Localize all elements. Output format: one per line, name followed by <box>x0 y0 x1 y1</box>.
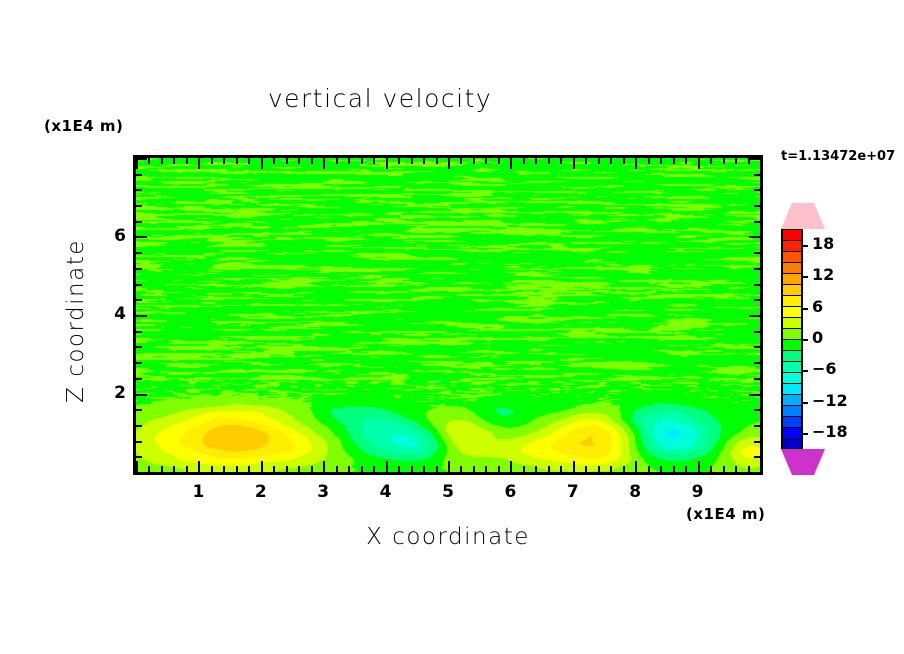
x-major-tick <box>510 461 512 472</box>
x-minor-tick-top <box>723 158 725 164</box>
x-minor-tick-top <box>498 158 500 164</box>
y-minor-tick <box>136 174 142 176</box>
colorbar-label-18: 18 <box>812 234 834 253</box>
colorbar-band-9 <box>781 328 803 339</box>
x-major-tick-top <box>323 158 325 169</box>
x-minor-tick <box>336 466 338 472</box>
x-major-tick <box>635 461 637 472</box>
x-minor-tick-top <box>173 158 175 164</box>
colorbar-band-15 <box>781 394 803 405</box>
x-minor-tick <box>535 466 537 472</box>
y-major-tick-right <box>749 158 760 160</box>
x-minor-tick <box>173 466 175 472</box>
y-major-tick-right <box>749 315 760 317</box>
x-major-tick-top <box>573 158 575 169</box>
x-major-tick-top <box>448 158 450 169</box>
x-major-tick <box>760 461 762 472</box>
x-minor-tick-top <box>273 158 275 164</box>
colorbar-tick-0 <box>803 339 808 341</box>
x-minor-tick <box>623 466 625 472</box>
x-major-tick <box>261 461 263 472</box>
colorbar-band-2 <box>781 251 803 262</box>
x-minor-tick-top <box>623 158 625 164</box>
x-minor-tick-top <box>248 158 250 164</box>
x-major-tick-top <box>510 158 512 169</box>
x-minor-tick-top <box>523 158 525 164</box>
x-minor-tick-top <box>148 158 150 164</box>
x-major-tick <box>323 461 325 472</box>
colorbar-label--12: −12 <box>812 391 848 410</box>
x-major-tick-top <box>698 158 700 169</box>
y-major-tick <box>136 315 147 317</box>
x-minor-tick <box>398 466 400 472</box>
x-minor-tick-top <box>348 158 350 164</box>
y-minor-tick-right <box>754 299 760 301</box>
y-major-tick <box>136 236 147 238</box>
colorbar-label-12: 12 <box>812 265 834 284</box>
x-minor-tick-top <box>710 158 712 164</box>
x-minor-tick <box>560 466 562 472</box>
x-axis-title: X coordinate <box>233 524 663 550</box>
x-minor-tick <box>460 466 462 472</box>
x-minor-tick <box>286 466 288 472</box>
y-minor-tick-right <box>754 221 760 223</box>
x-minor-tick <box>348 466 350 472</box>
y-minor-tick-right <box>754 456 760 458</box>
x-minor-tick <box>548 466 550 472</box>
colorbar-band-14 <box>781 383 803 394</box>
x-major-tick-top <box>760 158 762 169</box>
x-major-tick-top <box>386 158 388 169</box>
x-minor-tick-top <box>373 158 375 164</box>
colorbar-band-0 <box>781 229 803 240</box>
y-major-tick-right <box>749 472 760 474</box>
x-minor-tick <box>361 466 363 472</box>
colorbar-tick-6 <box>803 308 808 310</box>
x-minor-tick-top <box>685 158 687 164</box>
y-minor-tick-right <box>754 425 760 427</box>
y-minor-tick-right <box>754 378 760 380</box>
y-minor-tick <box>136 441 142 443</box>
y-minor-tick <box>136 346 142 348</box>
colorbar-band-13 <box>781 372 803 383</box>
y-minor-tick <box>136 221 142 223</box>
x-minor-tick-top <box>223 158 225 164</box>
x-minor-tick <box>735 466 737 472</box>
colorbar-label-6: 6 <box>812 297 823 316</box>
x-tick-label-1: 1 <box>183 482 213 502</box>
x-minor-tick <box>710 466 712 472</box>
x-axis-unit-label: (x1E4 m) <box>686 505 765 523</box>
x-tick-label-6: 6 <box>495 482 525 502</box>
y-tick-label-6: 6 <box>96 226 126 246</box>
y-tick-label-4: 4 <box>96 304 126 324</box>
x-minor-tick-top <box>411 158 413 164</box>
x-minor-tick <box>485 466 487 472</box>
y-minor-tick <box>136 362 142 364</box>
colorbar-band-5 <box>781 284 803 295</box>
y-major-tick <box>136 394 147 396</box>
velocity-field-canvas <box>136 158 760 472</box>
x-minor-tick-top <box>460 158 462 164</box>
y-minor-tick-right <box>754 252 760 254</box>
x-minor-tick <box>273 466 275 472</box>
x-minor-tick <box>411 466 413 472</box>
colorbar-band-8 <box>781 317 803 328</box>
x-major-tick <box>136 461 138 472</box>
x-minor-tick <box>423 466 425 472</box>
colorbar-cap-bottom <box>781 449 825 475</box>
x-minor-tick <box>498 466 500 472</box>
colorbar-band-6 <box>781 295 803 306</box>
y-tick-label-2: 2 <box>96 383 126 403</box>
colorbar-tick--18 <box>803 433 808 435</box>
x-minor-tick-top <box>560 158 562 164</box>
x-major-tick-top <box>635 158 637 169</box>
y-major-tick <box>136 158 147 160</box>
page-title: vertical velocity <box>0 84 760 113</box>
x-minor-tick-top <box>735 158 737 164</box>
y-axis-unit-label: (x1E4 m) <box>44 117 123 135</box>
x-tick-label-4: 4 <box>371 482 401 502</box>
x-minor-tick <box>598 466 600 472</box>
y-minor-tick <box>136 331 142 333</box>
x-minor-tick <box>585 466 587 472</box>
y-minor-tick <box>136 425 142 427</box>
colorbar-tick--12 <box>803 402 808 404</box>
x-minor-tick-top <box>211 158 213 164</box>
colorbar-band-12 <box>781 361 803 372</box>
x-minor-tick-top <box>236 158 238 164</box>
x-minor-tick-top <box>361 158 363 164</box>
colorbar-band-7 <box>781 306 803 317</box>
colorbar-cap-top <box>781 203 825 229</box>
x-tick-label-2: 2 <box>246 482 276 502</box>
x-minor-tick <box>436 466 438 472</box>
x-major-tick <box>198 461 200 472</box>
y-minor-tick-right <box>754 189 760 191</box>
colorbar-tick-18 <box>803 245 808 247</box>
colorbar-band-4 <box>781 273 803 284</box>
x-minor-tick <box>685 466 687 472</box>
x-minor-tick-top <box>398 158 400 164</box>
x-tick-label-8: 8 <box>620 482 650 502</box>
y-minor-tick <box>136 205 142 207</box>
x-minor-tick-top <box>585 158 587 164</box>
y-minor-tick-right <box>754 205 760 207</box>
x-minor-tick-top <box>336 158 338 164</box>
colorbar-band-16 <box>781 405 803 416</box>
x-minor-tick <box>186 466 188 472</box>
x-minor-tick <box>311 466 313 472</box>
x-tick-label-9: 9 <box>683 482 713 502</box>
y-major-tick-right <box>749 236 760 238</box>
colorbar-band-19 <box>781 438 803 449</box>
x-minor-tick-top <box>286 158 288 164</box>
y-minor-tick <box>136 252 142 254</box>
x-minor-tick-top <box>298 158 300 164</box>
x-minor-tick-top <box>660 158 662 164</box>
y-minor-tick <box>136 189 142 191</box>
x-major-tick-top <box>261 158 263 169</box>
x-tick-label-3: 3 <box>308 482 338 502</box>
y-minor-tick-right <box>754 284 760 286</box>
colorbar-band-18 <box>781 427 803 438</box>
x-minor-tick <box>373 466 375 472</box>
colorbar-band-1 <box>781 240 803 251</box>
x-minor-tick <box>473 466 475 472</box>
x-minor-tick <box>211 466 213 472</box>
y-minor-tick <box>136 299 142 301</box>
x-minor-tick <box>298 466 300 472</box>
colorbar-tick-12 <box>803 276 808 278</box>
x-minor-tick-top <box>548 158 550 164</box>
x-minor-tick-top <box>311 158 313 164</box>
x-minor-tick <box>236 466 238 472</box>
colorbar-band-3 <box>781 262 803 273</box>
x-minor-tick <box>148 466 150 472</box>
x-minor-tick <box>660 466 662 472</box>
x-minor-tick-top <box>610 158 612 164</box>
y-minor-tick-right <box>754 441 760 443</box>
x-minor-tick-top <box>648 158 650 164</box>
colorbar-band-17 <box>781 416 803 427</box>
x-major-tick <box>573 461 575 472</box>
x-minor-tick-top <box>535 158 537 164</box>
x-minor-tick <box>223 466 225 472</box>
x-tick-label-5: 5 <box>433 482 463 502</box>
colorbar-label-0: 0 <box>812 328 823 347</box>
y-minor-tick-right <box>754 409 760 411</box>
x-major-tick-top <box>198 158 200 169</box>
x-minor-tick-top <box>485 158 487 164</box>
colorbar-tick--6 <box>803 370 808 372</box>
x-minor-tick <box>648 466 650 472</box>
colorbar-label--6: −6 <box>812 359 837 378</box>
x-minor-tick <box>248 466 250 472</box>
x-minor-tick-top <box>186 158 188 164</box>
y-minor-tick-right <box>754 346 760 348</box>
y-minor-tick <box>136 456 142 458</box>
x-minor-tick-top <box>598 158 600 164</box>
x-minor-tick-top <box>161 158 163 164</box>
colorbar-label--18: −18 <box>812 422 848 441</box>
y-minor-tick <box>136 268 142 270</box>
x-minor-tick <box>610 466 612 472</box>
y-major-tick-right <box>749 394 760 396</box>
y-minor-tick <box>136 284 142 286</box>
y-major-tick <box>136 472 147 474</box>
x-tick-label-7: 7 <box>558 482 588 502</box>
x-minor-tick-top <box>423 158 425 164</box>
x-minor-tick <box>161 466 163 472</box>
y-minor-tick-right <box>754 174 760 176</box>
x-minor-tick-top <box>473 158 475 164</box>
x-major-tick <box>698 461 700 472</box>
timestamp-label: t=1.13472e+07 <box>781 149 895 164</box>
y-minor-tick-right <box>754 268 760 270</box>
x-minor-tick-top <box>673 158 675 164</box>
x-minor-tick <box>673 466 675 472</box>
x-minor-tick-top <box>436 158 438 164</box>
y-axis-title: Z coordinate <box>63 221 89 421</box>
y-minor-tick-right <box>754 331 760 333</box>
y-minor-tick-right <box>754 362 760 364</box>
y-minor-tick <box>136 378 142 380</box>
x-major-tick <box>386 461 388 472</box>
x-minor-tick <box>523 466 525 472</box>
y-minor-tick <box>136 409 142 411</box>
x-major-tick <box>448 461 450 472</box>
colorbar-band-10 <box>781 339 803 350</box>
colorbar-band-11 <box>781 350 803 361</box>
x-minor-tick <box>723 466 725 472</box>
contour-plot-area <box>133 155 763 475</box>
